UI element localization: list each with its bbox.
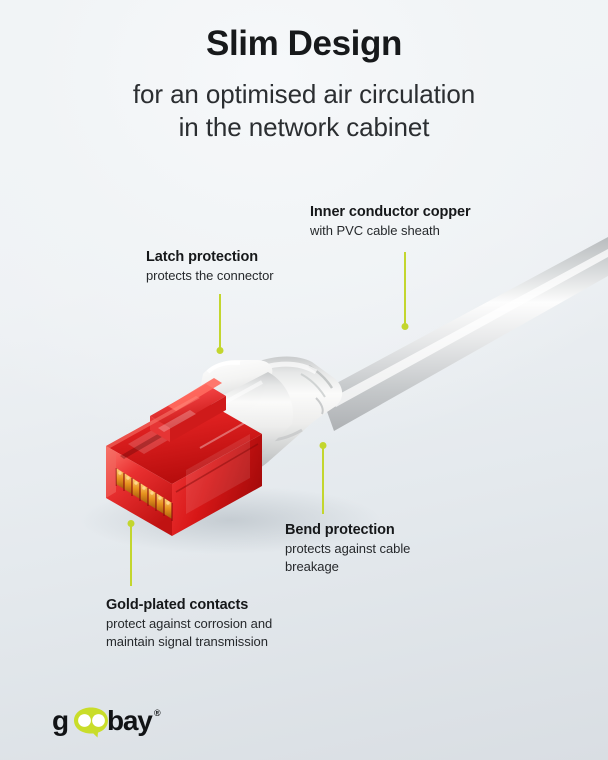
callout-bend-protection: Bend protection protects against cable b… xyxy=(285,521,410,575)
callout-description-line-1: with PVC cable sheath xyxy=(310,222,471,239)
logo-text-tail: bay xyxy=(107,705,153,736)
leader-line-bend-protection xyxy=(322,444,324,514)
callout-title: Bend protection xyxy=(285,521,410,540)
logo-o-second xyxy=(92,714,105,727)
callout-description: with PVC cable sheath xyxy=(310,222,471,239)
callout-inner-conductor-copper: Inner conductor copper with PVC cable sh… xyxy=(310,203,471,240)
callout-description-line-1: protect against corrosion and xyxy=(106,615,272,632)
callout-description-line-2: breakage xyxy=(285,558,410,575)
callout-title: Inner conductor copper xyxy=(310,203,471,222)
callout-description-line-1: protects the connector xyxy=(146,267,274,284)
logo-o-first xyxy=(78,714,91,727)
callout-latch-protection: Latch protection protects the connector xyxy=(146,248,274,285)
product-illustration xyxy=(0,0,608,760)
callout-description: protect against corrosion and maintain s… xyxy=(106,615,272,650)
callout-description: protects the connector xyxy=(146,267,274,284)
infographic-canvas: Slim Design for an optimised air circula… xyxy=(0,0,608,760)
callout-title: Latch protection xyxy=(146,248,274,267)
goobay-logo: g bay ® xyxy=(50,704,180,738)
cable-jacket xyxy=(320,237,608,431)
callout-description-line-1: protects against cable xyxy=(285,540,410,557)
callout-title: Gold-plated contacts xyxy=(106,596,272,615)
leader-line-latch-protection xyxy=(219,294,221,352)
callout-description-line-2: maintain signal transmission xyxy=(106,633,272,650)
leader-line-gold-plated-contacts xyxy=(130,522,132,586)
logo-text-lead: g xyxy=(52,705,68,736)
callout-description: protects against cable breakage xyxy=(285,540,410,575)
leader-line-inner-conductor-copper xyxy=(404,252,406,328)
logo-registered-mark: ® xyxy=(154,708,161,718)
callout-gold-plated-contacts: Gold-plated contacts protect against cor… xyxy=(106,596,272,650)
